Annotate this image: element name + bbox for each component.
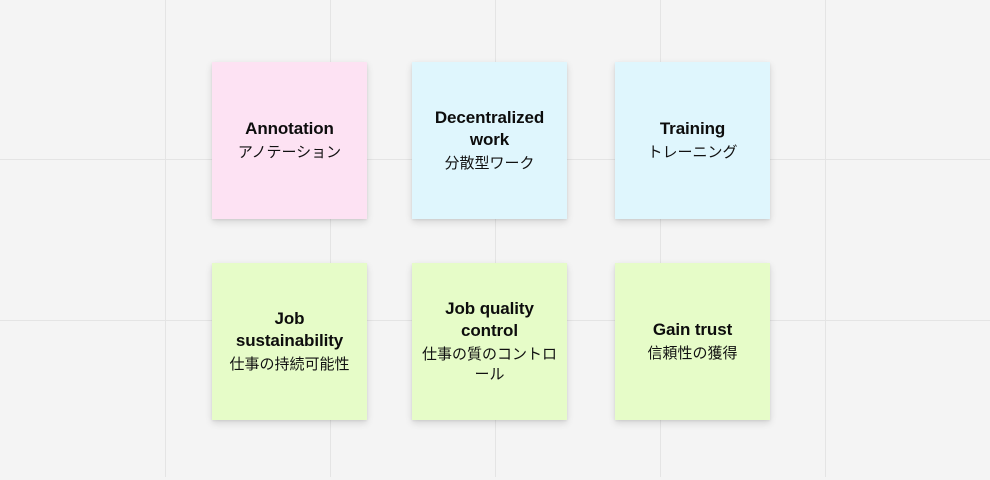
card-decentralized-work[interactable]: Decentralized work 分散型ワーク [412,62,567,219]
card-gain-trust[interactable]: Gain trust 信頼性の獲得 [615,263,770,420]
card-subtitle: アノテーション [238,143,341,163]
card-subtitle: トレーニング [647,143,737,163]
card-title: Gain trust [653,319,732,341]
card-title: Decentralized work [420,107,559,151]
card-annotation[interactable]: Annotation アノテーション [212,62,367,219]
card-job-sustainability[interactable]: Job sustainability 仕事の持続可能性 [212,263,367,420]
card-title: Job sustainability [220,308,359,352]
card-board: Annotation アノテーション Decentralized work 分散… [0,0,990,480]
card-subtitle: 仕事の質のコントロール [420,345,559,385]
card-title: Training [660,118,725,140]
card-subtitle: 分散型ワーク [444,154,534,174]
card-training[interactable]: Training トレーニング [615,62,770,219]
card-subtitle: 仕事の持続可能性 [229,355,349,375]
card-title: Annotation [245,118,334,140]
card-subtitle: 信頼性の獲得 [647,344,737,364]
card-title: Job quality control [420,298,559,342]
card-job-quality-control[interactable]: Job quality control 仕事の質のコントロール [412,263,567,420]
